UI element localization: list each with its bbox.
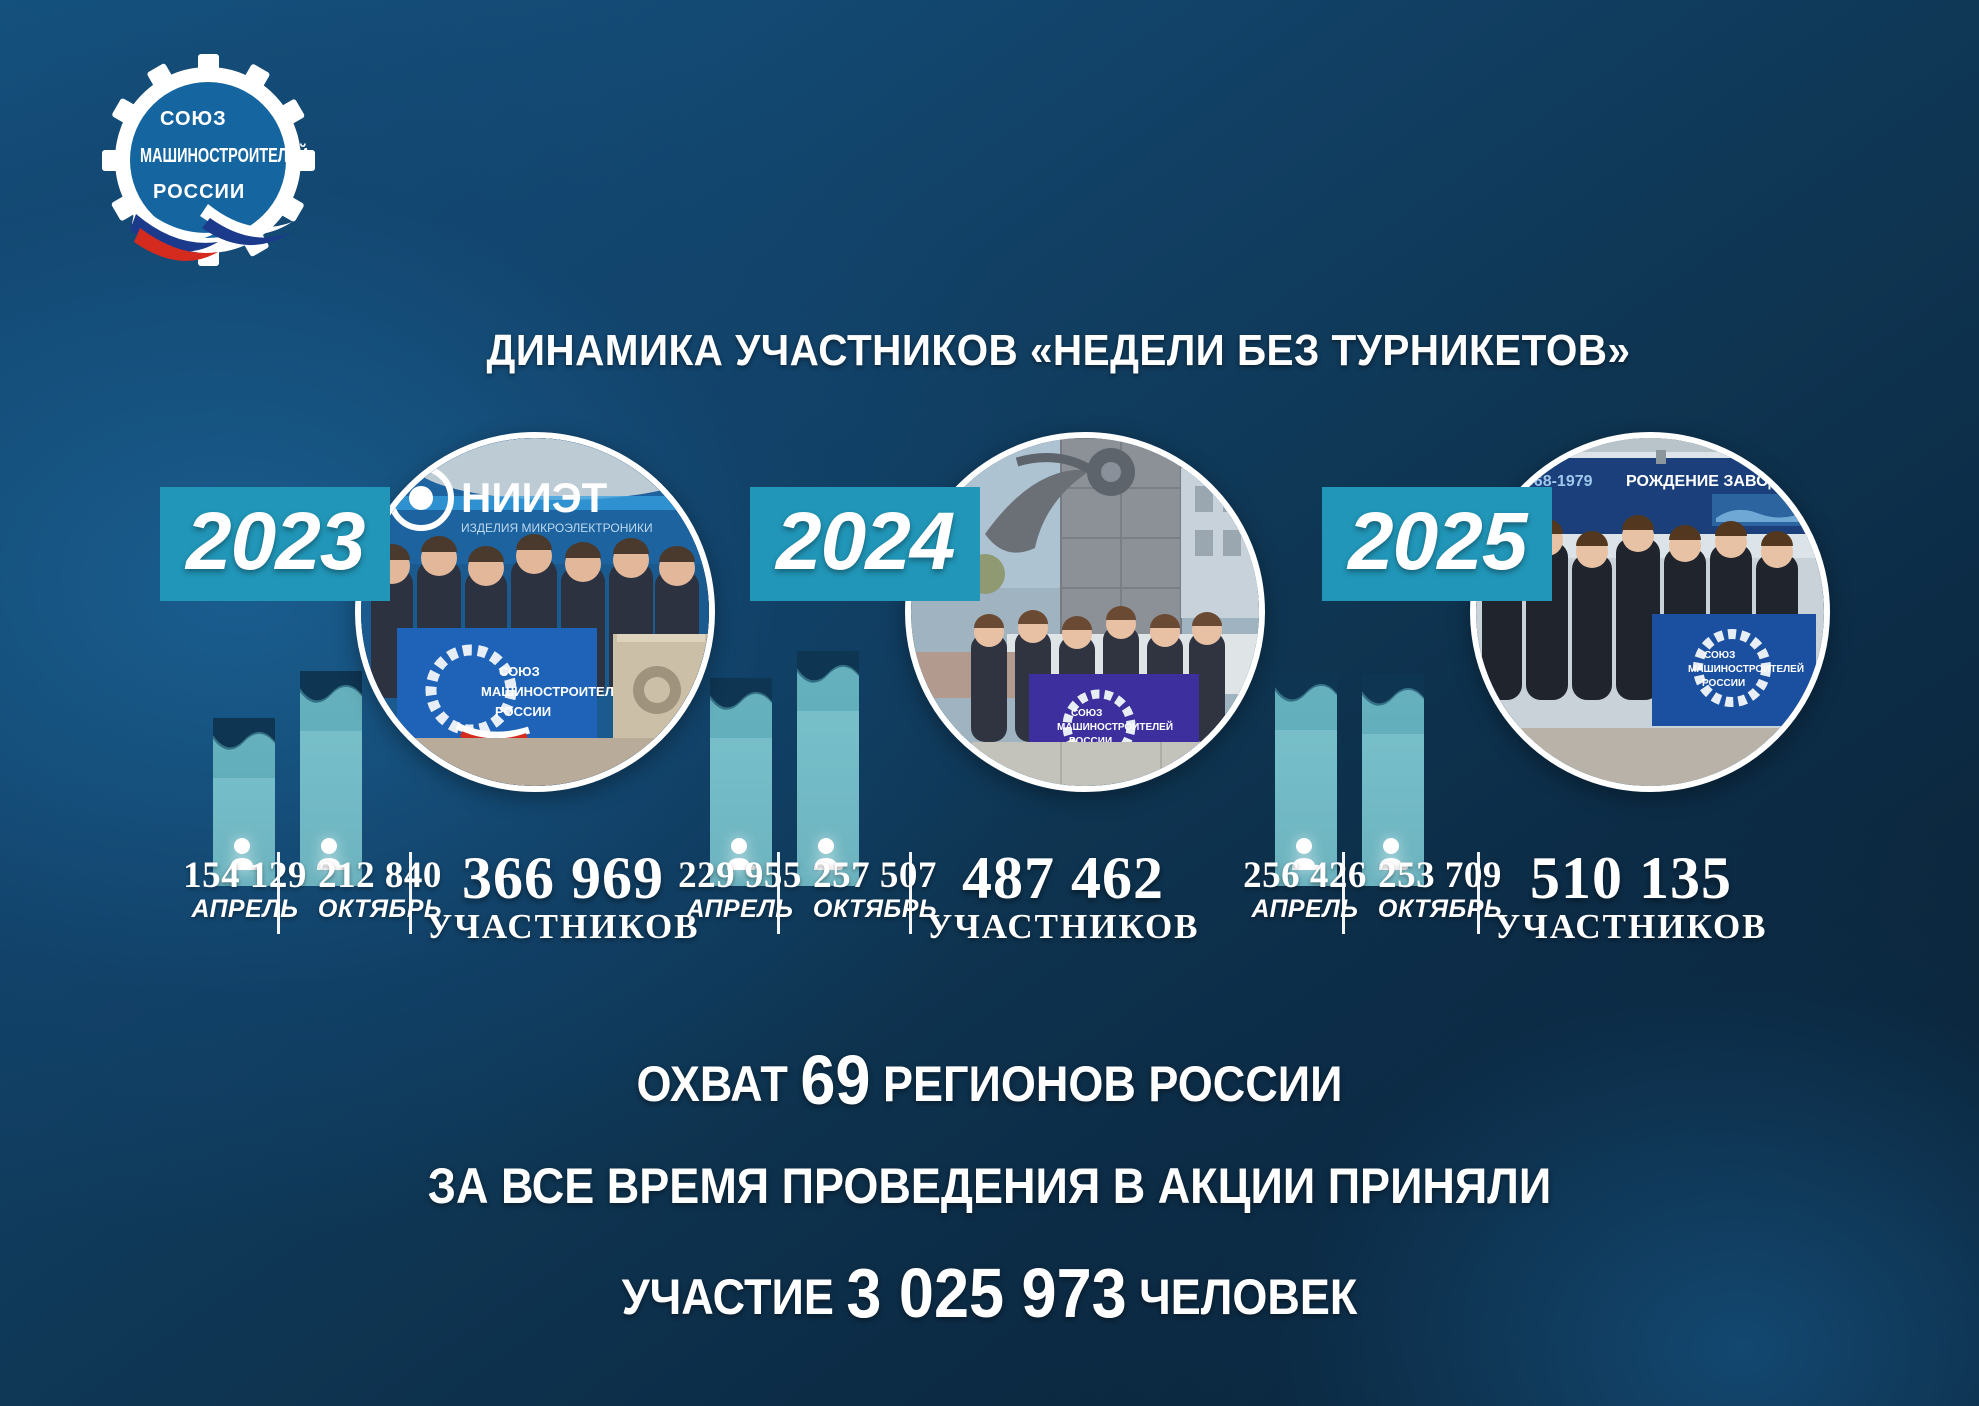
- stat-divider: [277, 852, 280, 934]
- bar-wave-top: [213, 718, 275, 778]
- stat-divider: [1342, 852, 1345, 934]
- year-badge-2025: 2025: [1322, 487, 1552, 601]
- total-value: 487 462: [918, 848, 1208, 908]
- bar-wave-top: [710, 678, 772, 738]
- gear-logo-icon: СОЮЗ МАШИНОСТРОИТЕЛЕЙ РОССИИ: [78, 52, 338, 272]
- stat-divider: [777, 852, 780, 934]
- bar-wave-top: [300, 671, 362, 731]
- footer-participation-pre: УЧАСТИЕ: [622, 1269, 847, 1325]
- footer-total-line2: УЧАСТИЕ 3 025 973 ЧЕЛОВЕК: [99, 1253, 1880, 1333]
- footer-coverage-pre: ОХВАТ: [637, 1056, 801, 1112]
- year-badge-2024: 2024: [750, 487, 980, 601]
- logo-line3: РОССИИ: [153, 181, 245, 203]
- footer-total-count: 3 025 973: [846, 1254, 1126, 1332]
- svg-text:СОЮЗ: СОЮЗ: [1071, 708, 1102, 719]
- bar-2024-october: [797, 651, 859, 886]
- svg-text:ИЗДЕЛИЯ МИКРОЭЛЕКТРОНИКИ: ИЗДЕЛИЯ МИКРОЭЛЕКТРОНИКИ: [461, 521, 653, 535]
- stat-divider: [1477, 852, 1480, 934]
- photo-2025: 1968-1979 РОЖДЕНИЕ ЗАВОДА: [1470, 432, 1830, 792]
- total-label: УЧАСТНИКОВ: [918, 908, 1208, 947]
- svg-text:РОЖДЕНИЕ ЗАВОДА: РОЖДЕНИЕ ЗАВОДА: [1626, 473, 1792, 490]
- svg-text:МАШИНОСТРОИТЕЛЕЙ: МАШИНОСТРОИТЕЛЕЙ: [1688, 662, 1804, 675]
- total-2025: 510 135 УЧАСТНИКОВ: [1486, 848, 1776, 947]
- svg-text:НИИЭТ: НИИЭТ: [461, 474, 608, 521]
- total-2024: 487 462 УЧАСТНИКОВ: [918, 848, 1208, 947]
- page-title: ДИНАМИКА УЧАСТНИКОВ «НЕДЕЛИ БЕЗ ТУРНИКЕТ…: [79, 326, 1900, 376]
- bar-2025-april: [1275, 670, 1337, 886]
- svg-text:СОЮЗ: СОЮЗ: [499, 664, 540, 679]
- photo-2024: СОЮЗ МАШИНОСТРОИТЕЛЕЙ РОССИИ: [905, 432, 1265, 792]
- year-badge-2023: 2023: [160, 487, 390, 601]
- total-label: УЧАСТНИКОВ: [1486, 908, 1776, 947]
- total-value: 510 135: [1486, 848, 1776, 908]
- footer-coverage-line: ОХВАТ 69 РЕГИОНОВ РОССИИ: [99, 1040, 1880, 1120]
- union-logo: СОЮЗ МАШИНОСТРОИТЕЛЕЙ РОССИИ: [78, 52, 338, 272]
- logo-line2: МАШИНОСТРОИТЕЛЕЙ: [140, 143, 308, 167]
- footer-total-line1: ЗА ВСЕ ВРЕМЯ ПРОВЕДЕНИЯ В АКЦИИ ПРИНЯЛИ: [99, 1157, 1880, 1215]
- footer-regions-count: 69: [800, 1041, 870, 1119]
- bar-wave-top: [797, 651, 859, 711]
- photo-2023: НИИЭТ ИЗДЕЛИЯ МИКРОЭЛЕКТРОНИКИ: [355, 432, 715, 792]
- svg-text:МАШИНОСТРОИТЕЛЕЙ: МАШИНОСТРОИТЕЛЕЙ: [1057, 720, 1173, 733]
- svg-text:РОССИИ: РОССИИ: [1702, 678, 1745, 689]
- bar-2023-october: [300, 671, 362, 886]
- svg-text:МАШИНОСТРОИТЕЛЕЙ: МАШИНОСТРОИТЕЛЕЙ: [481, 684, 632, 699]
- svg-text:РОССИИ: РОССИИ: [495, 704, 551, 719]
- bar-wave-top: [1275, 670, 1337, 730]
- footer-participation-post: ЧЕЛОВЕК: [1127, 1269, 1358, 1325]
- svg-text:СОЮЗ: СОЮЗ: [1704, 650, 1735, 661]
- footer-coverage-post: РЕГИОНОВ РОССИИ: [870, 1056, 1342, 1112]
- logo-line1: СОЮЗ: [160, 108, 227, 130]
- bar-wave-top: [1362, 674, 1424, 734]
- stat-divider: [909, 852, 912, 934]
- infographic-poster: СОЮЗ МАШИНОСТРОИТЕЛЕЙ РОССИИ ДИНАМИКА УЧ…: [0, 0, 1979, 1406]
- stat-divider: [409, 852, 412, 934]
